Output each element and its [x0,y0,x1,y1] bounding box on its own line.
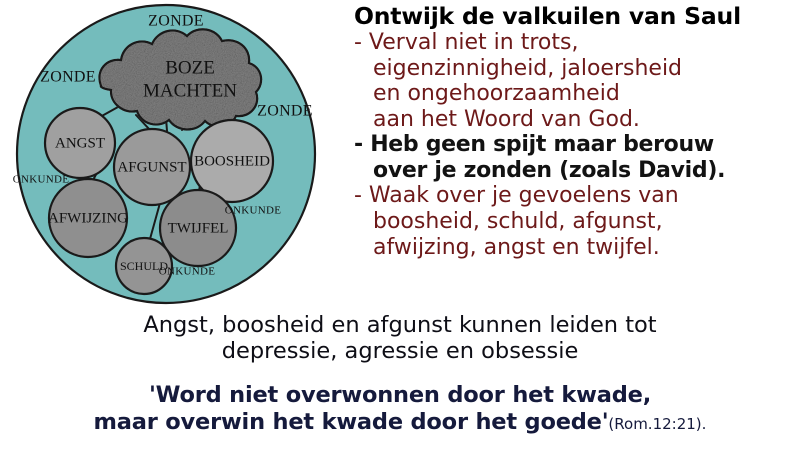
quote-line2: maar overwin het kwade door het goede' [94,409,609,435]
cloud-label-line2: MACHTEN [143,80,237,101]
bullet-list: - Verval niet in trots,eigenzinnigheid, … [352,30,800,260]
emotion-node-twijfel: TWIJFEL [160,190,236,266]
ring-label-onkunde-right: ONKUNDE [225,205,281,217]
boze-machten-diagram: BOZE MACHTEN ANGSTAFGUNSTBOOSHEIDAFWIJZI… [0,0,340,312]
ring-label-zonde-right: ZONDE [257,103,313,120]
bullet-line-7: boosheid, schuld, afgunst, [354,209,800,235]
ring-label-onkunde-bottom: ONKUNDE [159,266,215,278]
ring-label-zonde-left: ZONDE [40,69,96,86]
node-label-angst: ANGST [55,135,105,151]
quote-line1: 'Word niet overwonnen door het kwade, [0,382,800,409]
node-label-afwijzing: AFWIJZING [48,210,128,226]
bullet-line-8: afwijzing, angst en twijfel. [354,235,800,261]
ring-label-zonde-top: ZONDE [148,13,204,30]
bullet-line-6: - Waak over je gevoelens van [354,183,800,209]
emotion-node-angst: ANGST [45,108,115,178]
bullet-line-2: en ongehoorzaamheid [354,81,800,107]
node-label-twijfel: TWIJFEL [168,220,229,236]
bullet-line-5: over je zonden (zoals David). [354,158,800,184]
bullet-line-0: - Verval niet in trots, [354,30,800,56]
bottom-quote: 'Word niet overwonnen door het kwade, ma… [0,382,800,436]
right-text-block: Ontwijk de valkuilen van Saul - Verval n… [352,2,800,310]
bullet-line-1: eigenzinnigheid, jaloersheid [354,56,800,82]
slide-root: BOZE MACHTEN ANGSTAFGUNSTBOOSHEIDAFWIJZI… [0,0,800,455]
quote-line2-wrap: maar overwin het kwade door het goede'(R… [0,409,800,436]
bottom-note-line1: Angst, boosheid en afgunst kunnen leiden… [0,312,800,338]
emotion-node-afgunst: AFGUNST [114,129,190,205]
bottom-note: Angst, boosheid en afgunst kunnen leiden… [0,312,800,364]
cloud-label-line1: BOZE [165,57,215,78]
page-title: Ontwijk de valkuilen van Saul [354,4,800,29]
bottom-note-line2: depressie, agressie en obsessie [0,338,800,364]
emotion-node-afwijzing: AFWIJZING [48,179,128,257]
ring-label-onkunde-left: ONKUNDE [13,174,69,186]
bullet-line-4: - Heb geen spijt maar berouw [354,132,800,158]
bullet-line-3: aan het Woord van God. [354,107,800,133]
node-label-afgunst: AFGUNST [117,159,186,175]
node-label-boosheid: BOOSHEID [194,153,270,169]
quote-reference: (Rom.12:21). [608,415,706,433]
